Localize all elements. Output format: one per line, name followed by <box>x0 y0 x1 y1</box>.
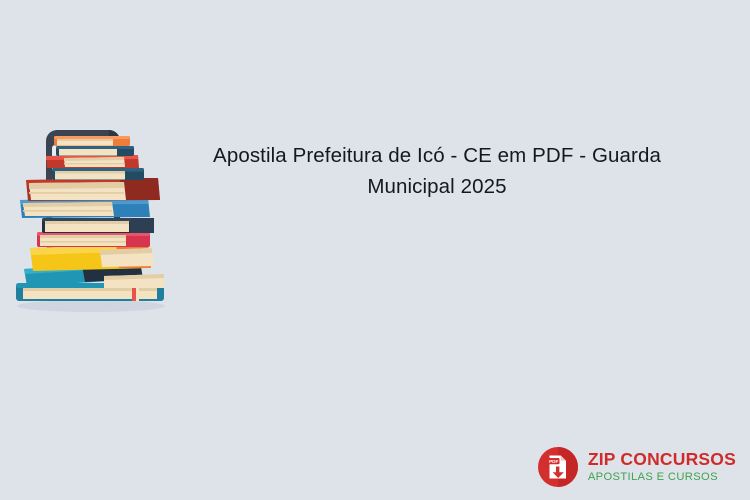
promo-card: Apostila Prefeitura de Icó - CE em PDF -… <box>0 0 750 500</box>
brand-watermark: PDF ZIP CONCURSOS APOSTILAS E CURSOS <box>537 446 736 488</box>
book-crimson <box>37 232 150 247</box>
svg-text:PDF: PDF <box>549 459 558 464</box>
book-navy-small <box>52 168 144 180</box>
book-red-small <box>46 155 139 168</box>
book-top-navy <box>56 146 134 156</box>
ground-shadow <box>17 300 165 312</box>
book-blue <box>20 198 150 218</box>
brand-text: ZIP CONCURSOS APOSTILAS E CURSOS <box>588 451 736 483</box>
book-yellow <box>30 244 154 271</box>
book-top-orange <box>54 136 130 146</box>
page-title-block: Apostila Prefeitura de Icó - CE em PDF -… <box>176 140 698 202</box>
book-red-large <box>26 178 160 201</box>
brand-tagline: APOSTILAS E CURSOS <box>588 472 718 483</box>
page-title: Apostila Prefeitura de Icó - CE em PDF -… <box>176 140 698 202</box>
book-dark-navy <box>42 218 154 233</box>
books-tablet-illustration <box>12 128 170 314</box>
brand-name: ZIP CONCURSOS <box>588 451 736 469</box>
pdf-download-badge-icon: PDF <box>537 446 579 488</box>
